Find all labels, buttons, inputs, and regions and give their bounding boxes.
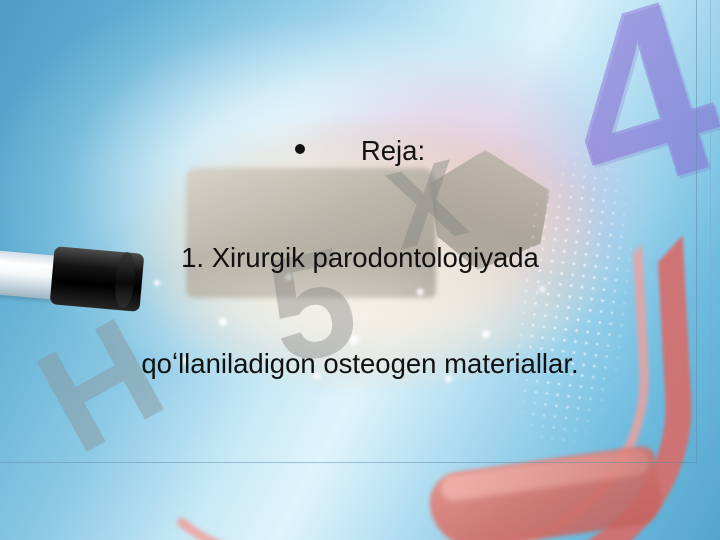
outline-spacer (0, 453, 720, 489)
bullet-heading-line: Reja: (0, 133, 720, 169)
outline-item-1: 1. Xirurgik parodontologiyada (0, 240, 720, 276)
outline-item-1-cont: qoʻllaniladigon osteogen materiallar. (0, 346, 720, 382)
presentation-slide: 4 H 5 X Reja: 1. Xirurgik parodontologiy… (0, 0, 720, 540)
slide-body-text: Reja: 1. Xirurgik parodontologiyada qoʻl… (0, 62, 720, 540)
bullet-point-icon (295, 144, 305, 154)
slide-heading: Reja: (361, 135, 425, 166)
